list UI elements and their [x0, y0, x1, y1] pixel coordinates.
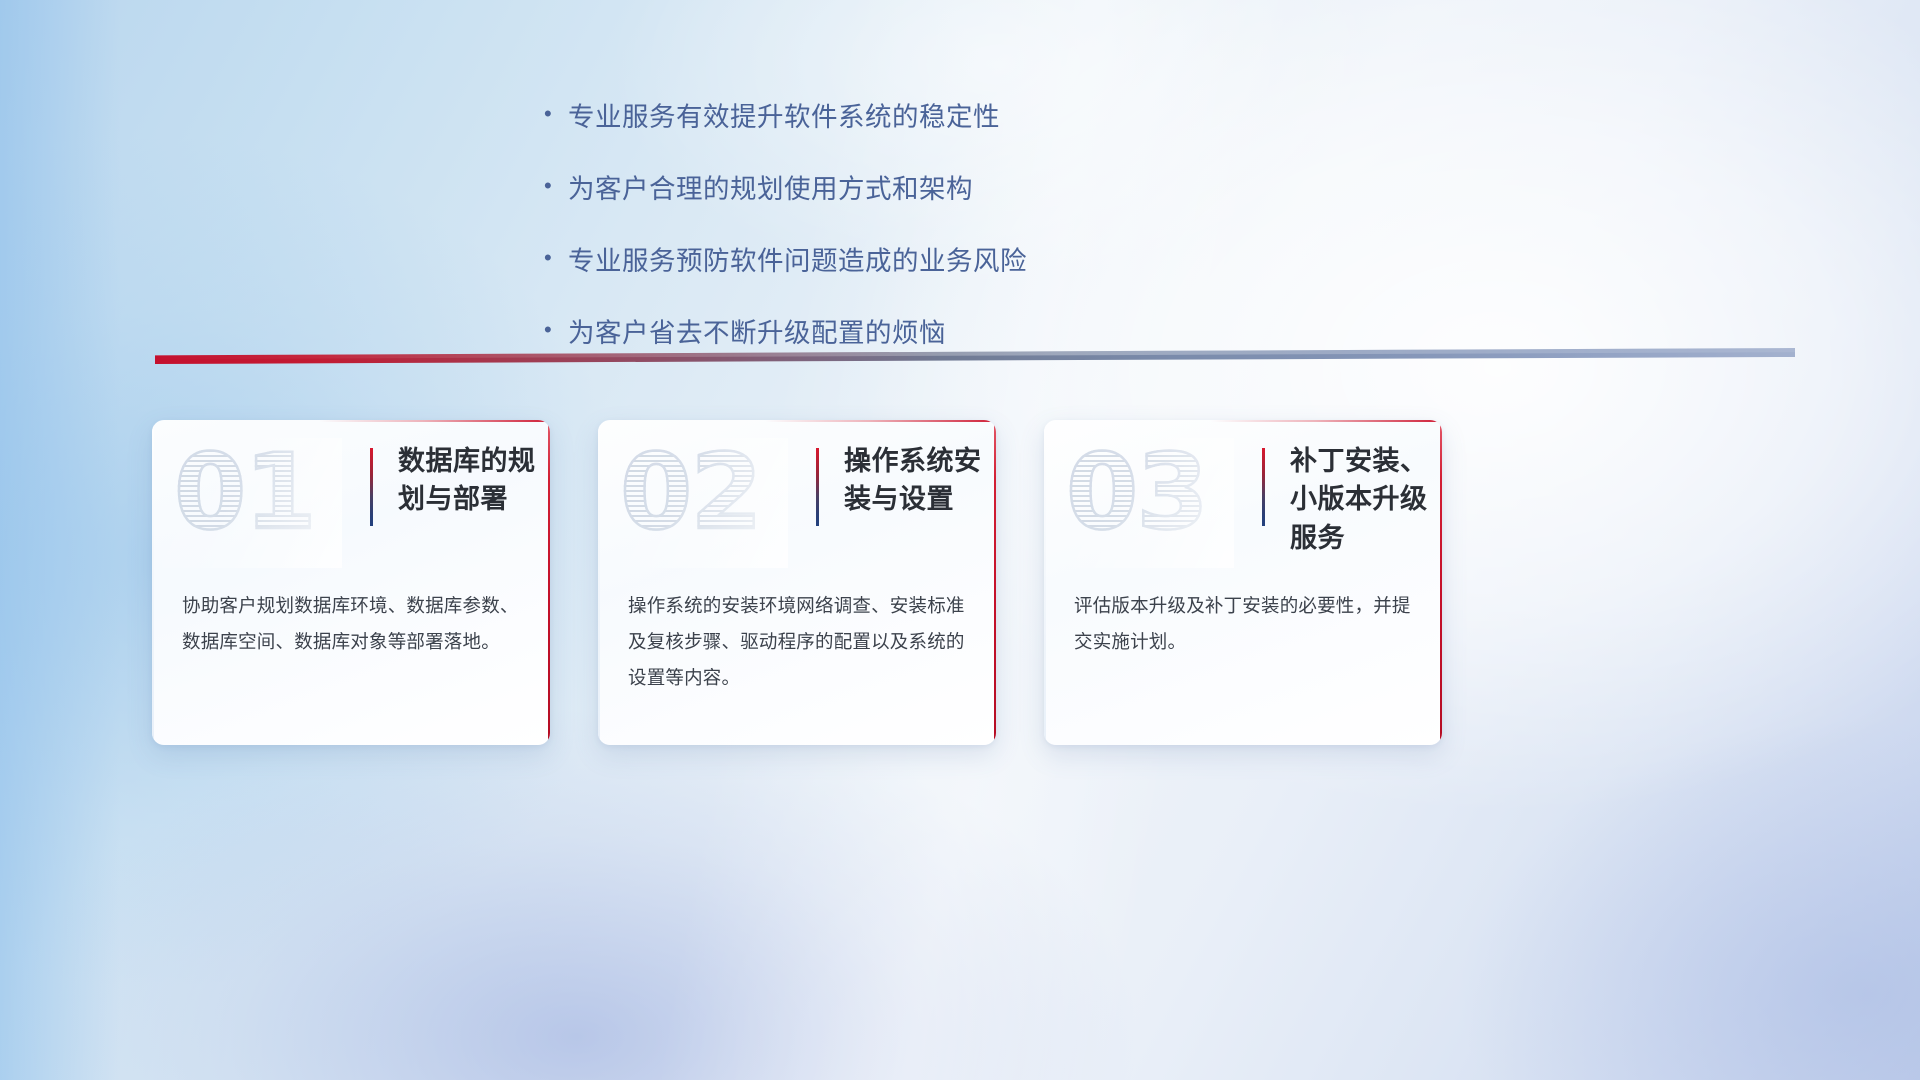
card-description: 协助客户规划数据库环境、数据库参数、数据库空间、数据库对象等部署落地。	[182, 588, 522, 660]
card-title: 补丁安装、小版本升级服务	[1290, 442, 1430, 557]
benefits-bullet-list: • 专业服务有效提升软件系统的稳定性 • 为客户合理的规划使用方式和架构 • 专…	[540, 88, 1300, 356]
list-item: • 为客户省去不断升级配置的烦恼	[540, 304, 1300, 356]
card-number-watermark: 02	[620, 440, 761, 544]
list-item-label: 专业服务预防软件问题造成的业务风险	[568, 239, 1027, 278]
service-card-01[interactable]: 01 数据库的规划与部署 协助客户规划数据库环境、数据库参数、数据库空间、数据库…	[152, 420, 550, 745]
list-item: • 专业服务预防软件问题造成的业务风险	[540, 232, 1300, 284]
card-header: 01 数据库的规划与部署	[152, 420, 550, 570]
card-title-accent-bar	[816, 448, 819, 526]
list-item-label: 为客户省去不断升级配置的烦恼	[568, 311, 946, 350]
service-card-02[interactable]: 02 操作系统安装与设置 操作系统的安装环境网络调查、安装标准及复核步骤、驱动程…	[598, 420, 996, 745]
card-title: 操作系统安装与设置	[844, 442, 984, 519]
list-item: • 专业服务有效提升软件系统的稳定性	[540, 88, 1300, 140]
card-header: 03 补丁安装、小版本升级服务	[1044, 420, 1442, 570]
card-header: 02 操作系统安装与设置	[598, 420, 996, 570]
list-item-label: 为客户合理的规划使用方式和架构	[568, 167, 973, 206]
card-title-accent-bar	[1262, 448, 1265, 526]
card-title-accent-bar	[370, 448, 373, 526]
list-item: • 为客户合理的规划使用方式和架构	[540, 160, 1300, 212]
card-description: 评估版本升级及补丁安装的必要性，并提交实施计划。	[1074, 588, 1414, 660]
list-item-label: 专业服务有效提升软件系统的稳定性	[568, 95, 1000, 134]
bullet-dot-icon: •	[540, 319, 568, 341]
card-number-watermark: 01	[174, 440, 315, 544]
bullet-dot-icon: •	[540, 103, 568, 125]
card-number-watermark: 03	[1066, 440, 1207, 544]
service-card-03[interactable]: 03 补丁安装、小版本升级服务 评估版本升级及补丁安装的必要性，并提交实施计划。	[1044, 420, 1442, 745]
card-title: 数据库的规划与部署	[398, 442, 538, 519]
card-description: 操作系统的安装环境网络调查、安装标准及复核步骤、驱动程序的配置以及系统的设置等内…	[628, 588, 968, 696]
bullet-dot-icon: •	[540, 247, 568, 269]
bullet-dot-icon: •	[540, 175, 568, 197]
service-card-list: 01 数据库的规划与部署 协助客户规划数据库环境、数据库参数、数据库空间、数据库…	[0, 420, 1920, 745]
